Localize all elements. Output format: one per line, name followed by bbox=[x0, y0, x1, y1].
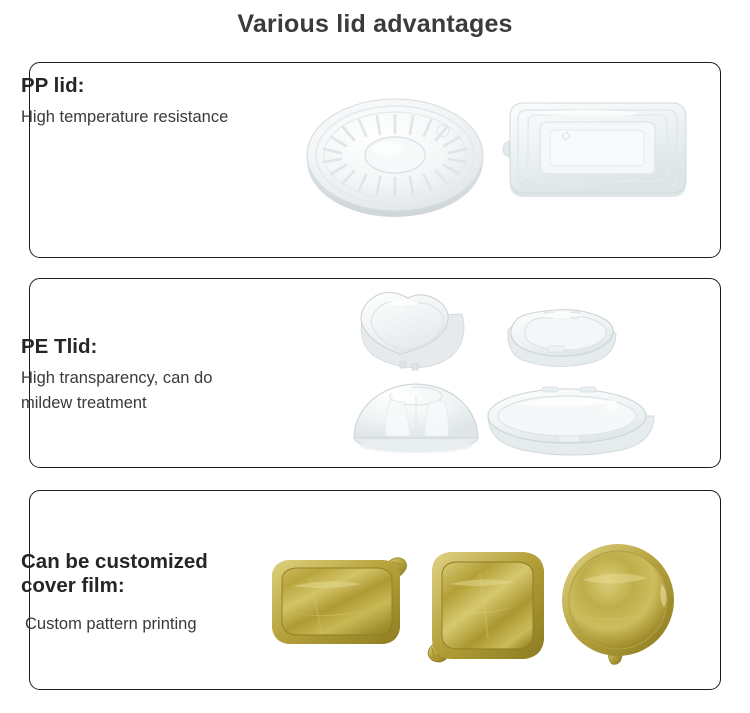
pet-lid-description: High transparency, can do mildew treatme… bbox=[21, 366, 212, 416]
pet-lid-heading: PE Tlid: bbox=[21, 335, 212, 359]
pp-lid-heading: PP lid: bbox=[21, 74, 228, 98]
foil-cover-description: Custom pattern printing bbox=[21, 612, 208, 637]
foil-cover-heading: Can be customized cover film: bbox=[21, 550, 208, 598]
rectangular-gold-foil-cover-image bbox=[262, 548, 422, 658]
square-gold-foil-cover-image bbox=[424, 546, 554, 668]
round-gold-foil-cover-image bbox=[558, 540, 684, 668]
page-title: Various lid advantages bbox=[0, 10, 750, 39]
pet-lid-text-block: PE Tlid: High transparency, can do milde… bbox=[21, 335, 212, 416]
square-pet-lid-image bbox=[492, 290, 642, 378]
oval-pet-lid-image bbox=[480, 382, 660, 458]
pp-lid-description: High temperature resistance bbox=[21, 105, 228, 130]
dome-pet-lid-image bbox=[348, 374, 498, 456]
foil-cover-text-block: Can be customized cover film: Custom pat… bbox=[21, 550, 208, 637]
heart-shaped-pet-lid-image bbox=[352, 288, 502, 378]
rectangular-pp-lid-image bbox=[492, 85, 702, 225]
pp-lid-text-block: PP lid: High temperature resistance bbox=[21, 74, 228, 130]
round-pp-lid-image bbox=[300, 85, 500, 225]
